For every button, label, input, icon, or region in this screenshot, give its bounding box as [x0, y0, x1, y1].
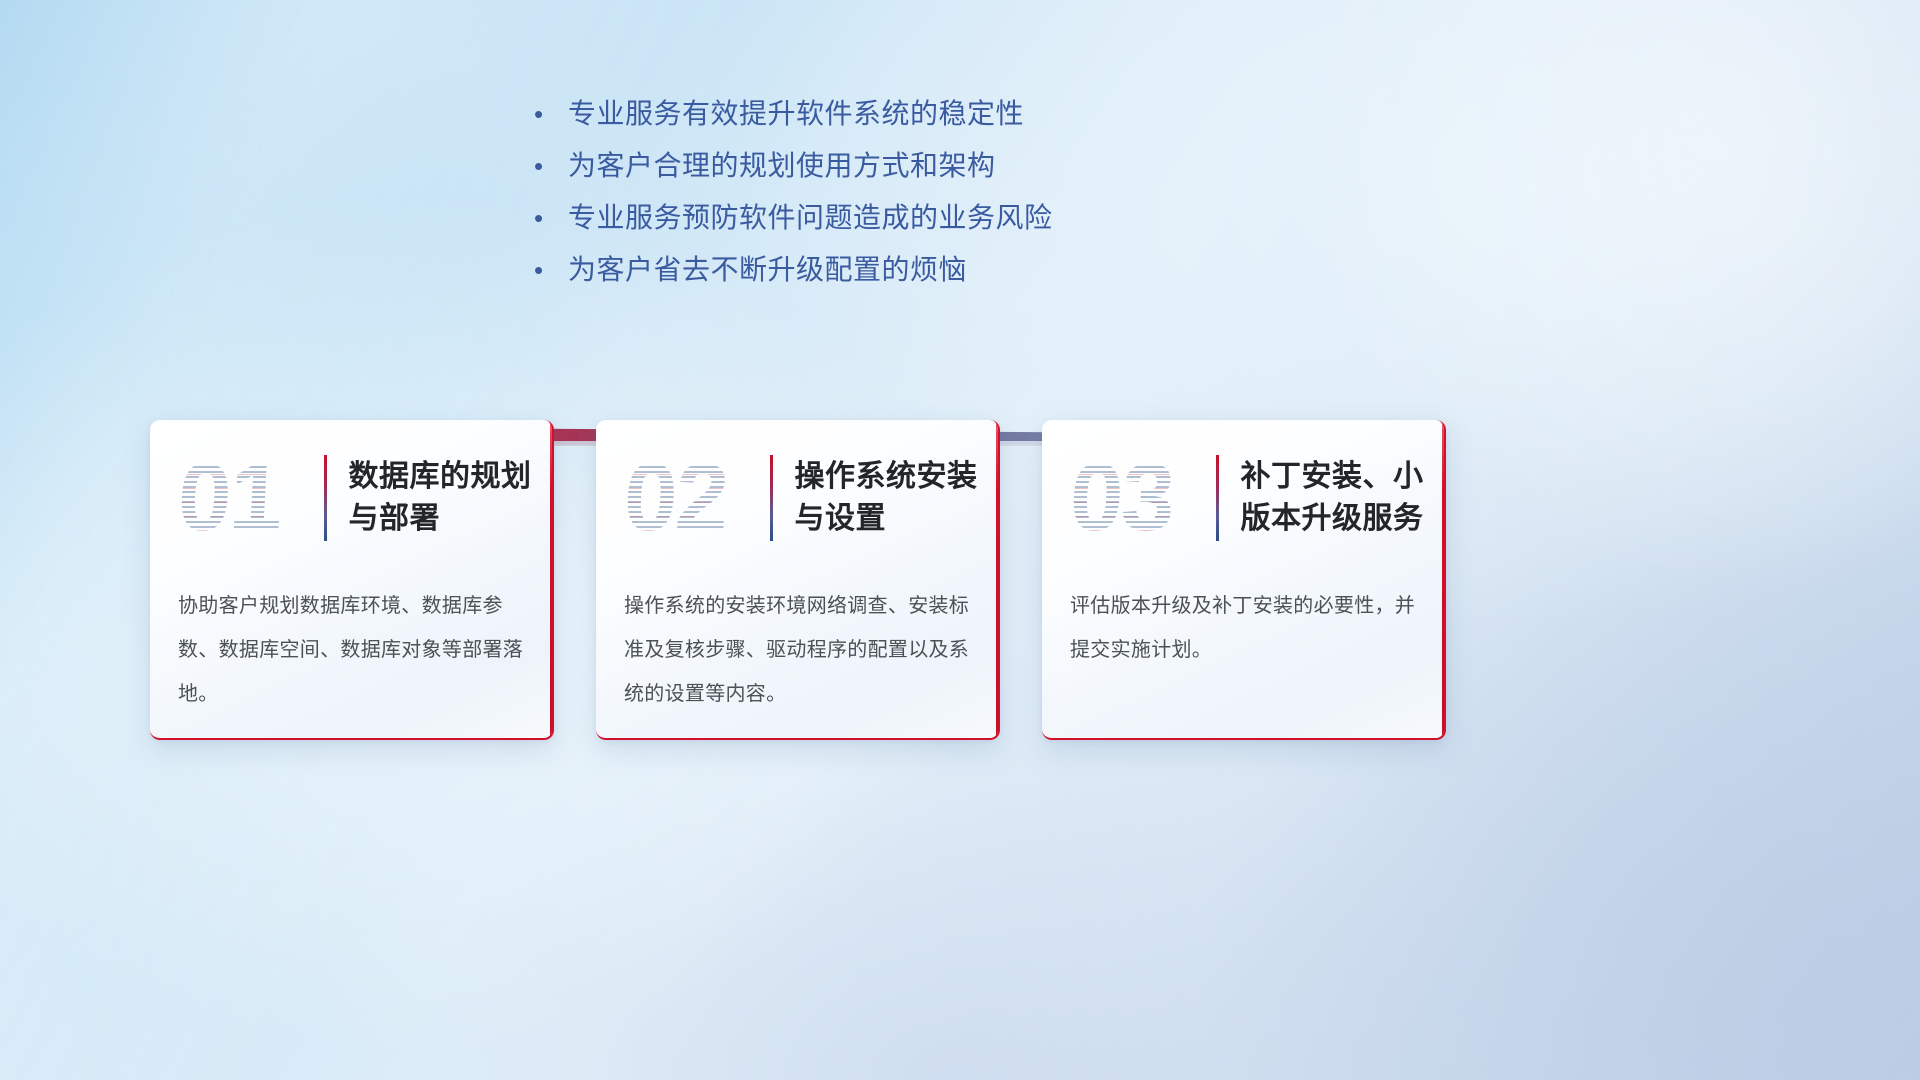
card-number-watermark: 01 01	[178, 446, 310, 550]
card-title: 补丁安装、小版本升级服务	[1241, 456, 1439, 540]
card-accent-divider	[770, 455, 773, 541]
card-header: 02 02 操作系统安装与设置	[596, 420, 998, 570]
bullet-marker-icon: •	[534, 140, 568, 192]
card-number-watermark: 03 03	[1070, 446, 1202, 550]
list-item: • 为客户合理的规划使用方式和架构	[534, 140, 1314, 192]
card-body-text: 操作系统的安装环境网络调查、安装标准及复核步骤、驱动程序的配置以及系统的设置等内…	[596, 570, 998, 716]
card-number-tint: 02	[621, 446, 758, 550]
bullet-marker-icon: •	[534, 192, 568, 244]
card-number-watermark: 02 02	[624, 446, 756, 550]
service-card-03[interactable]: 03 03 补丁安装、小版本升级服务 评估版本升级及补丁安装的必要性，并提交实施…	[1042, 420, 1446, 740]
card-accent-divider	[1216, 455, 1219, 541]
card-header: 01 01 数据库的规划与部署	[150, 420, 552, 570]
card-body-text: 协助客户规划数据库环境、数据库参数、数据库空间、数据库对象等部署落地。	[150, 570, 552, 716]
bullet-text: 专业服务预防软件问题造成的业务风险	[568, 192, 1053, 244]
card-number-tint: 01	[175, 446, 312, 550]
service-card-01[interactable]: 01 01 数据库的规划与部署 协助客户规划数据库环境、数据库参数、数据库空间、…	[150, 420, 554, 740]
card-title: 数据库的规划与部署	[349, 456, 547, 540]
card-number-tint: 03	[1067, 446, 1204, 550]
bullet-marker-icon: •	[534, 244, 568, 296]
bullet-text: 为客户省去不断升级配置的烦恼	[568, 244, 967, 296]
card-header: 03 03 补丁安装、小版本升级服务	[1042, 420, 1444, 570]
benefits-bullet-list: • 专业服务有效提升软件系统的稳定性 • 为客户合理的规划使用方式和架构 • 专…	[534, 88, 1314, 296]
service-card-02[interactable]: 02 02 操作系统安装与设置 操作系统的安装环境网络调查、安装标准及复核步骤、…	[596, 420, 1000, 740]
service-card-row: 01 01 数据库的规划与部署 协助客户规划数据库环境、数据库参数、数据库空间、…	[150, 420, 1770, 1040]
card-body-text: 评估版本升级及补丁安装的必要性，并提交实施计划。	[1042, 570, 1444, 672]
list-item: • 专业服务有效提升软件系统的稳定性	[534, 88, 1314, 140]
card-title: 操作系统安装与设置	[795, 456, 993, 540]
slide-canvas: • 专业服务有效提升软件系统的稳定性 • 为客户合理的规划使用方式和架构 • 专…	[0, 0, 1920, 1080]
bullet-text: 专业服务有效提升软件系统的稳定性	[568, 88, 1024, 140]
card-accent-divider	[324, 455, 327, 541]
list-item: • 为客户省去不断升级配置的烦恼	[534, 244, 1314, 296]
bullet-marker-icon: •	[534, 88, 568, 140]
bullet-text: 为客户合理的规划使用方式和架构	[568, 140, 996, 192]
list-item: • 专业服务预防软件问题造成的业务风险	[534, 192, 1314, 244]
